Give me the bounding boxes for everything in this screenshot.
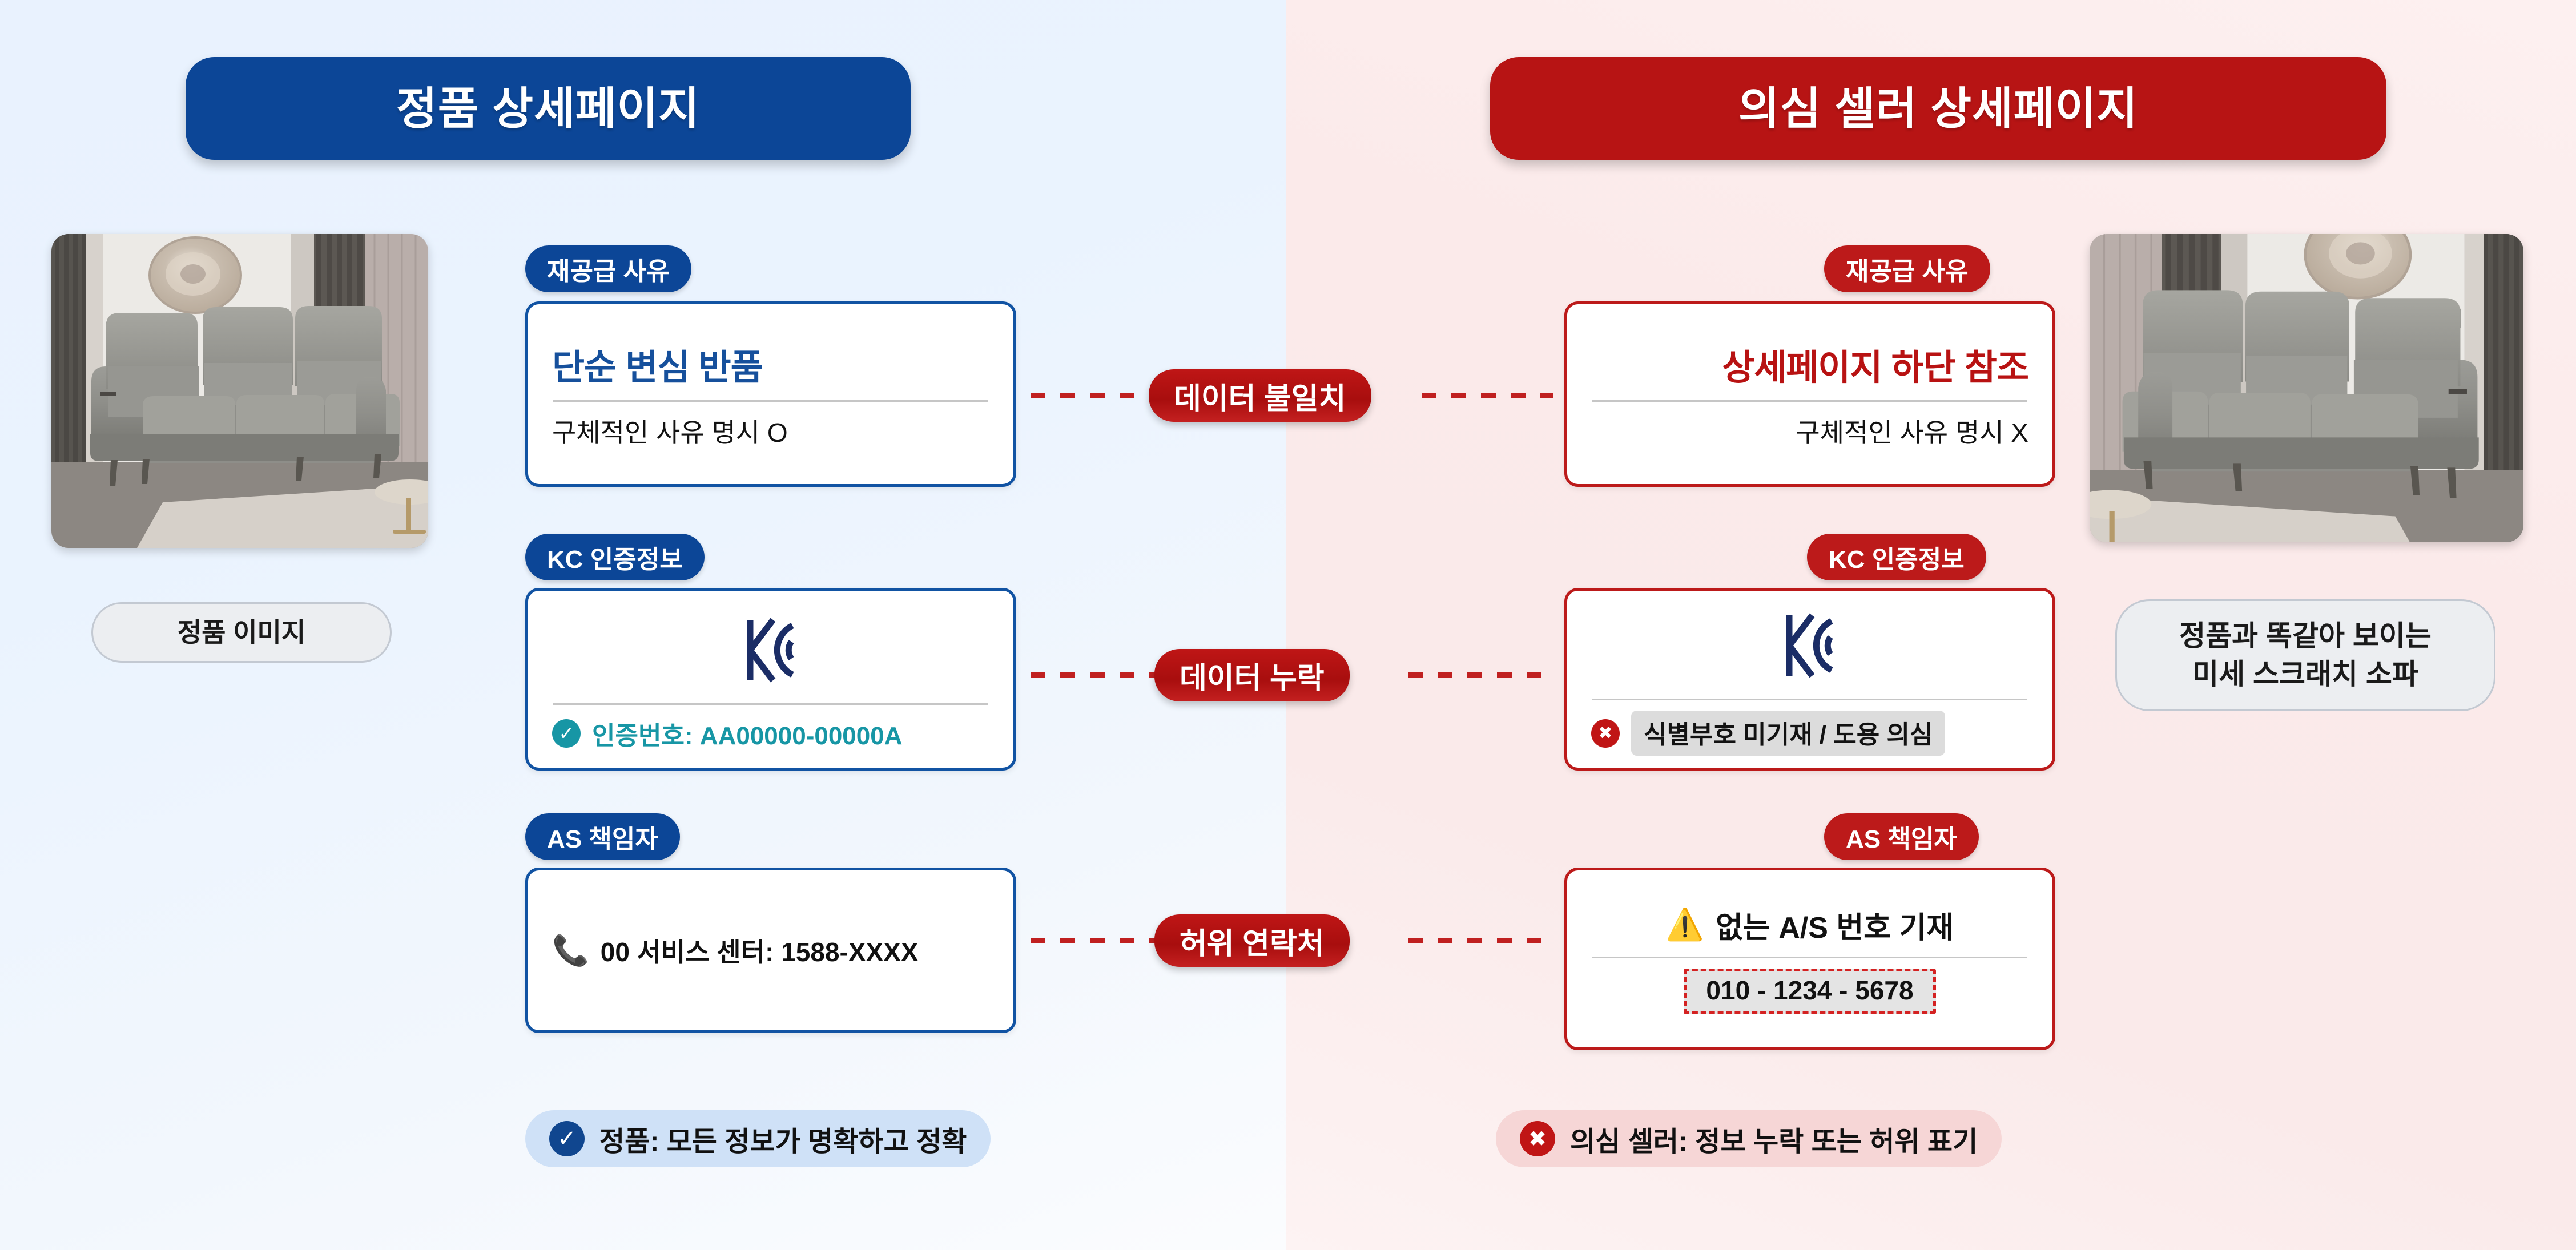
divider bbox=[1592, 957, 2027, 958]
product-photo-suspect bbox=[2090, 234, 2523, 542]
header-banner-suspect: 의심 셀러 상세페이지 bbox=[1490, 57, 2386, 160]
connector-false-contact: 허위 연락처 bbox=[1154, 914, 1350, 967]
genuine-contact-row: 📞 00 서비스 센터: 1588-XXXX bbox=[552, 932, 989, 969]
warning-triangle-icon: ⚠️ bbox=[1666, 907, 1704, 943]
phone-icon: 📞 bbox=[552, 933, 589, 968]
suspect-as-warning-row: ⚠️ 없는 A/S 번호 기재 bbox=[1591, 904, 2028, 946]
card-suspect-resupply-reason: 상세페이지 하단 참조 구체적인 사유 명시 X bbox=[1564, 301, 2055, 487]
genuine-reason-sub: 구체적인 사유 명시 O bbox=[552, 412, 989, 450]
check-circle-icon: ✓ bbox=[552, 719, 581, 748]
connector-line-right-2 bbox=[1408, 672, 1553, 678]
suspect-reason-main: 상세페이지 하단 참조 bbox=[1591, 338, 2028, 390]
badge-genuine-kc-cert: KC 인증정보 bbox=[525, 534, 705, 580]
header-banner-genuine: 정품 상세페이지 bbox=[186, 57, 911, 160]
connector-line-left-1 bbox=[1031, 393, 1159, 398]
suspect-phone-wrap: 010 - 1234 - 5678 bbox=[1591, 969, 2028, 1014]
badge-suspect-as-contact: AS 책임자 bbox=[1824, 813, 1979, 860]
connector-line-right-1 bbox=[1422, 393, 1553, 398]
suspect-kc-warning-row: ✖ 식별부호 미기재 / 도용 의심 bbox=[1591, 711, 2028, 756]
kc-mark-icon bbox=[552, 607, 989, 693]
kc-mark-icon bbox=[1591, 603, 2028, 688]
badge-genuine-resupply-reason: 재공급 사유 bbox=[525, 245, 691, 292]
caption-suspect-image: 정품과 똑같아 보이는 미세 스크래치 소파 bbox=[2115, 599, 2495, 711]
connector-line-right-3 bbox=[1408, 938, 1553, 943]
card-genuine-resupply-reason: 단순 변심 반품 구체적인 사유 명시 O bbox=[525, 301, 1016, 487]
infographic-root: 정품 상세페이지 의심 셀러 상세페이지 bbox=[0, 0, 2576, 1250]
summary-suspect-text: 의심 셀러: 정보 누락 또는 허위 표기 bbox=[1570, 1119, 1978, 1159]
summary-genuine: ✓ 정품: 모든 정보가 명확하고 정확 bbox=[525, 1110, 991, 1167]
badge-suspect-kc-cert: KC 인증정보 bbox=[1807, 534, 1986, 580]
genuine-cert-number: 인증번호: AA00000-00000A bbox=[592, 715, 902, 752]
genuine-contact-text: 00 서비스 센터: 1588-XXXX bbox=[601, 932, 919, 969]
divider bbox=[1592, 699, 2027, 700]
divider bbox=[553, 400, 988, 402]
check-circle-icon: ✓ bbox=[549, 1121, 585, 1156]
suspect-phone-number: 010 - 1234 - 5678 bbox=[1684, 969, 1935, 1014]
divider bbox=[553, 703, 988, 705]
caption-genuine-text: 정품 이미지 bbox=[178, 615, 305, 650]
card-suspect-as-contact: ⚠️ 없는 A/S 번호 기재 010 - 1234 - 5678 bbox=[1564, 868, 2055, 1050]
connector-line-left-2 bbox=[1031, 672, 1165, 678]
card-suspect-kc-cert: ✖ 식별부호 미기재 / 도용 의심 bbox=[1564, 588, 2055, 771]
summary-genuine-text: 정품: 모든 정보가 명확하고 정확 bbox=[599, 1119, 967, 1159]
suspect-as-warning-text: 없는 A/S 번호 기재 bbox=[1716, 904, 1954, 946]
sofa-illustration-genuine bbox=[51, 234, 428, 548]
caption-suspect-line1: 정품과 똑같아 보이는 bbox=[2179, 617, 2432, 656]
caption-suspect-line2: 미세 스크래치 소파 bbox=[2179, 655, 2432, 694]
genuine-reason-main: 단순 변심 반품 bbox=[552, 338, 989, 390]
divider bbox=[1592, 400, 2027, 402]
connector-data-mismatch: 데이터 불일치 bbox=[1149, 369, 1371, 422]
product-photo-genuine bbox=[51, 234, 428, 548]
suspect-kc-warning-text: 식별부호 미기재 / 도용 의심 bbox=[1631, 711, 1945, 756]
connector-data-missing: 데이터 누락 bbox=[1154, 649, 1350, 701]
suspect-reason-sub: 구체적인 사유 명시 X bbox=[1591, 412, 2028, 450]
header-title-genuine: 정품 상세페이지 bbox=[396, 86, 700, 131]
x-circle-icon: ✖ bbox=[1520, 1121, 1555, 1156]
header-title-suspect: 의심 셀러 상세페이지 bbox=[1738, 86, 2138, 131]
card-genuine-as-contact: 📞 00 서비스 센터: 1588-XXXX bbox=[525, 868, 1016, 1033]
x-circle-icon: ✖ bbox=[1591, 719, 1620, 748]
badge-suspect-resupply-reason: 재공급 사유 bbox=[1824, 245, 1990, 292]
summary-suspect: ✖ 의심 셀러: 정보 누락 또는 허위 표기 bbox=[1496, 1110, 2002, 1167]
caption-genuine-image: 정품 이미지 bbox=[91, 602, 392, 663]
sofa-illustration-suspect bbox=[2090, 234, 2523, 542]
badge-genuine-as-contact: AS 책임자 bbox=[525, 813, 680, 860]
card-genuine-kc-cert: ✓ 인증번호: AA00000-00000A bbox=[525, 588, 1016, 771]
connector-line-left-3 bbox=[1031, 938, 1165, 943]
genuine-cert-row: ✓ 인증번호: AA00000-00000A bbox=[552, 715, 989, 752]
